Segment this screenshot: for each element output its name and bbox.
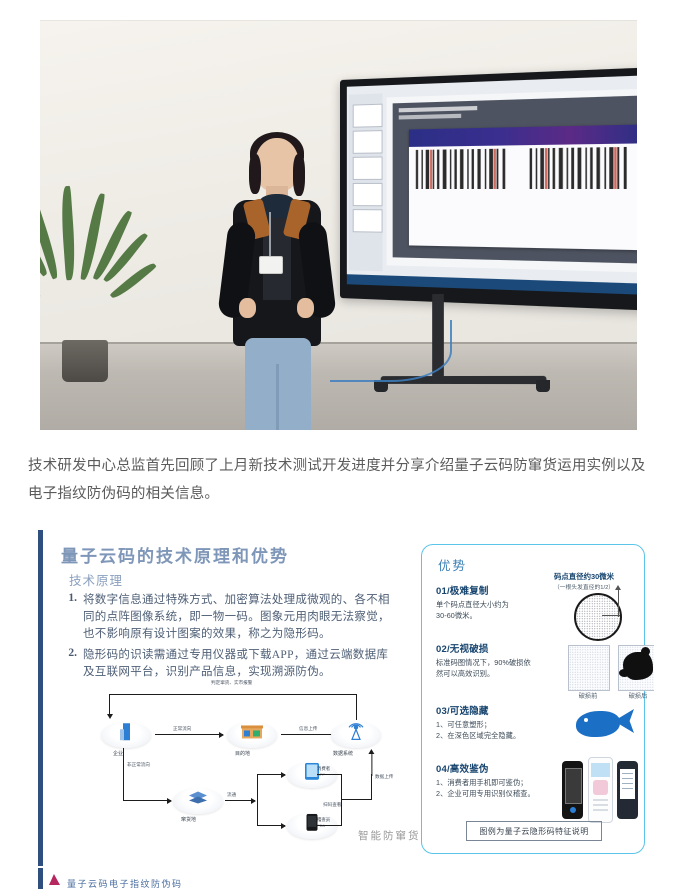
flow-node-target <box>227 722 277 748</box>
presentation-photo <box>40 20 637 430</box>
power-cable <box>330 320 452 382</box>
flow-node-factory <box>101 722 151 748</box>
list-text: 将数字信息通过特殊方式、加密算法处理成微观的、各不相同的点阵图像系统，即一物一码… <box>83 592 395 643</box>
advantages-panel: 优势 码点直径约30微米 （一根头发直径的1/2） 01/极难复制 单个码点直径… <box>421 544 645 854</box>
list-item: 1. 将数字信息通过特殊方式、加密算法处理成微观的、各不相同的点阵图像系统，即一… <box>55 592 395 643</box>
damaged-code-icon <box>618 645 654 691</box>
legend-caption: 图例为量子云隐形码特征说明 <box>466 821 602 841</box>
damage-label-before: 破损前 <box>568 691 608 700</box>
advantage-item-3: 03/可选隐藏 1、可任意塑形； 2、在深色区域完全隐藏。 <box>436 703 564 741</box>
device-group-icon <box>562 757 638 823</box>
flow-edge-label: 扫码查看 <box>323 802 341 808</box>
article-paragraph: 技术研发中心总监首先回顾了上月新技术测试开发进度并分享介绍量子云码防窜货运用实例… <box>28 452 650 508</box>
article-page: 技术研发中心总监首先回顾了上月新技术测试开发进度并分享介绍量子云码防窜货运用实例… <box>0 0 677 889</box>
annotation-arrow-icon <box>618 589 619 617</box>
list-number: 2. <box>55 647 83 681</box>
triangle-marker-icon <box>49 874 60 885</box>
flow-label-factory: 企业 <box>113 750 123 757</box>
next-slide-title: 量子云码电子指纹防伪码 <box>67 877 183 889</box>
undamaged-code-icon <box>568 645 610 691</box>
flow-edge-label: 正常流向 <box>173 726 191 732</box>
damage-label-after: 破损后 <box>618 691 654 700</box>
fish-shape-icon <box>572 705 634 743</box>
flow-label-system: 数据系统 <box>333 750 353 757</box>
list-text: 隐形码的识读需通过专用仪器或下载APP，通过云端数据库及互联网平台，识别产品信息… <box>83 647 395 681</box>
flow-edge-label: 数据上传 <box>375 774 393 780</box>
next-slide-preview: 量子云码电子指纹防伪码 <box>38 868 654 889</box>
infographic-slide: 量子云码的技术原理和优势 技术原理 1. 将数字信息通过特殊方式、加密算法处理成… <box>38 530 654 866</box>
screen-content <box>347 75 637 295</box>
flow-edge-label: 流通 <box>227 792 236 798</box>
advantage-item-4: 04/高效鉴伪 1、消费者用手机即可鉴伪； 2、企业可用专用识别仪稽查。 <box>436 761 564 799</box>
potted-plant <box>40 192 132 382</box>
advantages-title: 优势 <box>438 555 467 574</box>
flow-label-warehouse: 窜货地 <box>181 816 196 823</box>
barcode-figure <box>409 124 637 250</box>
slide-title: 量子云码的技术原理和优势 <box>61 542 289 567</box>
list-number: 1. <box>55 592 83 643</box>
presenter <box>225 138 329 430</box>
flowchart: 判定窜货、实市报警 企业 正常流向 目的地 信息上传 <box>101 682 401 852</box>
flow-edge-label: 信息上传 <box>299 726 317 732</box>
flow-top-label: 判定窜货、实市报警 <box>211 680 252 686</box>
advantage-item-1: 01/极难复制 单个码点直径大小约为 30-60微米。 <box>436 583 564 621</box>
magnified-dot-pattern-icon <box>574 593 622 641</box>
flow-node-warehouse <box>173 788 223 814</box>
principle-list: 1. 将数字信息通过特殊方式、加密算法处理成微观的、各不相同的点阵图像系统，即一… <box>55 592 395 685</box>
list-item: 2. 隐形码的识读需通过专用仪器或下载APP，通过云端数据库及互联网平台，识别产… <box>55 647 395 681</box>
advantage-item-2: 02/无视破损 标准码图情况下，90%破损依 然可以高效识别。 <box>436 641 564 679</box>
flow-node-system <box>331 722 381 748</box>
slide-subtitle: 技术原理 <box>69 570 123 589</box>
flow-label-target: 目的地 <box>235 750 250 757</box>
flowchart-watermark: 智能防窜货 <box>358 828 421 843</box>
flow-edge-label: 非正常流向 <box>127 762 150 768</box>
